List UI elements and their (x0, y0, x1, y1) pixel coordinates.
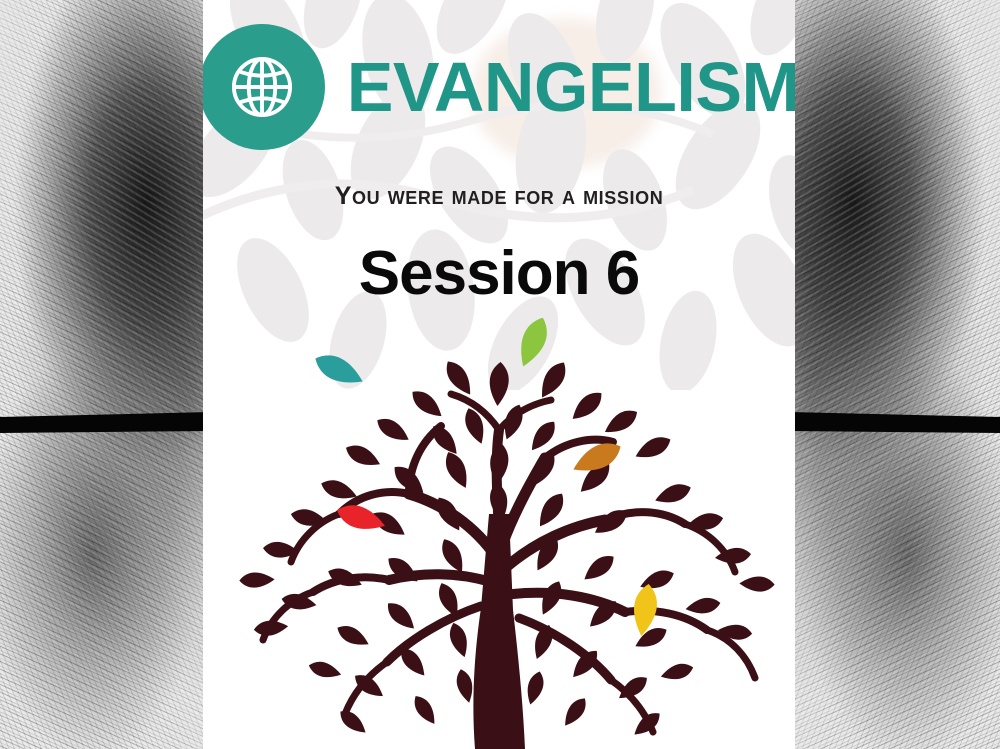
globe-icon (203, 24, 325, 150)
teal-leaf (310, 348, 367, 391)
tagline: You were made for a mission (203, 182, 795, 211)
slide-stage: EVANGELISM You were made for a mission S… (0, 0, 1000, 749)
green-leaf (513, 318, 554, 371)
slide-panel: EVANGELISM You were made for a mission S… (203, 0, 795, 749)
tree-illustration (213, 318, 785, 749)
brand-header: EVANGELISM (203, 24, 795, 150)
brand-title: EVANGELISM (347, 52, 795, 122)
session-title: Session 6 (203, 238, 795, 309)
